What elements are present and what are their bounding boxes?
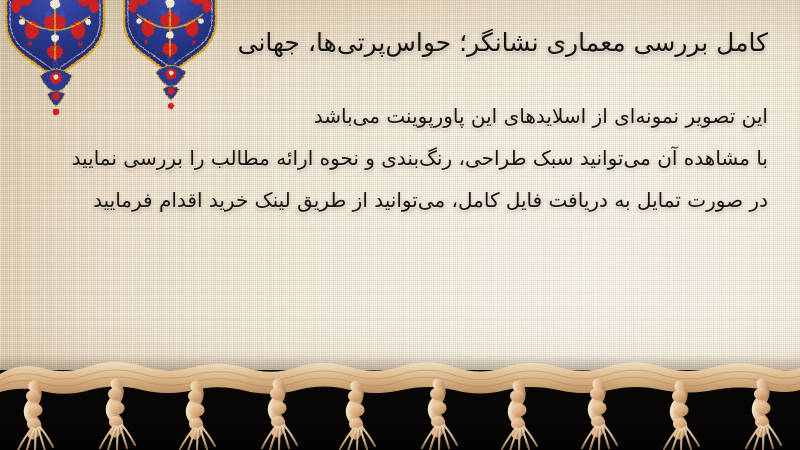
tassel <box>340 386 375 450</box>
body-line-1: این تصویر نمونه‌ای از اسلایدهای این پاور… <box>26 106 768 126</box>
tassel <box>746 384 781 450</box>
tassel <box>582 384 617 450</box>
tassel <box>422 384 457 450</box>
tassel <box>262 384 297 450</box>
tassel <box>664 386 699 450</box>
tassel <box>502 386 537 450</box>
tassel <box>18 386 53 450</box>
body-line-3: در صورت تمایل به دریافت فایل کامل، می‌تو… <box>26 190 768 210</box>
slide-title: کامل بررسی معماری نشانگر؛ حواس‌پرتی‌ها، … <box>28 26 768 60</box>
carpet-fringe-tassels <box>0 340 800 450</box>
body-line-2: با مشاهده آن می‌توانید سبک طراحی، رنگ‌بن… <box>26 148 768 168</box>
tassel <box>180 386 215 450</box>
slide-body: این تصویر نمونه‌ای از اسلایدهای این پاور… <box>26 106 768 210</box>
slide-canvas: کامل بررسی معماری نشانگر؛ حواس‌پرتی‌ها، … <box>0 0 800 450</box>
tassel <box>100 384 135 450</box>
